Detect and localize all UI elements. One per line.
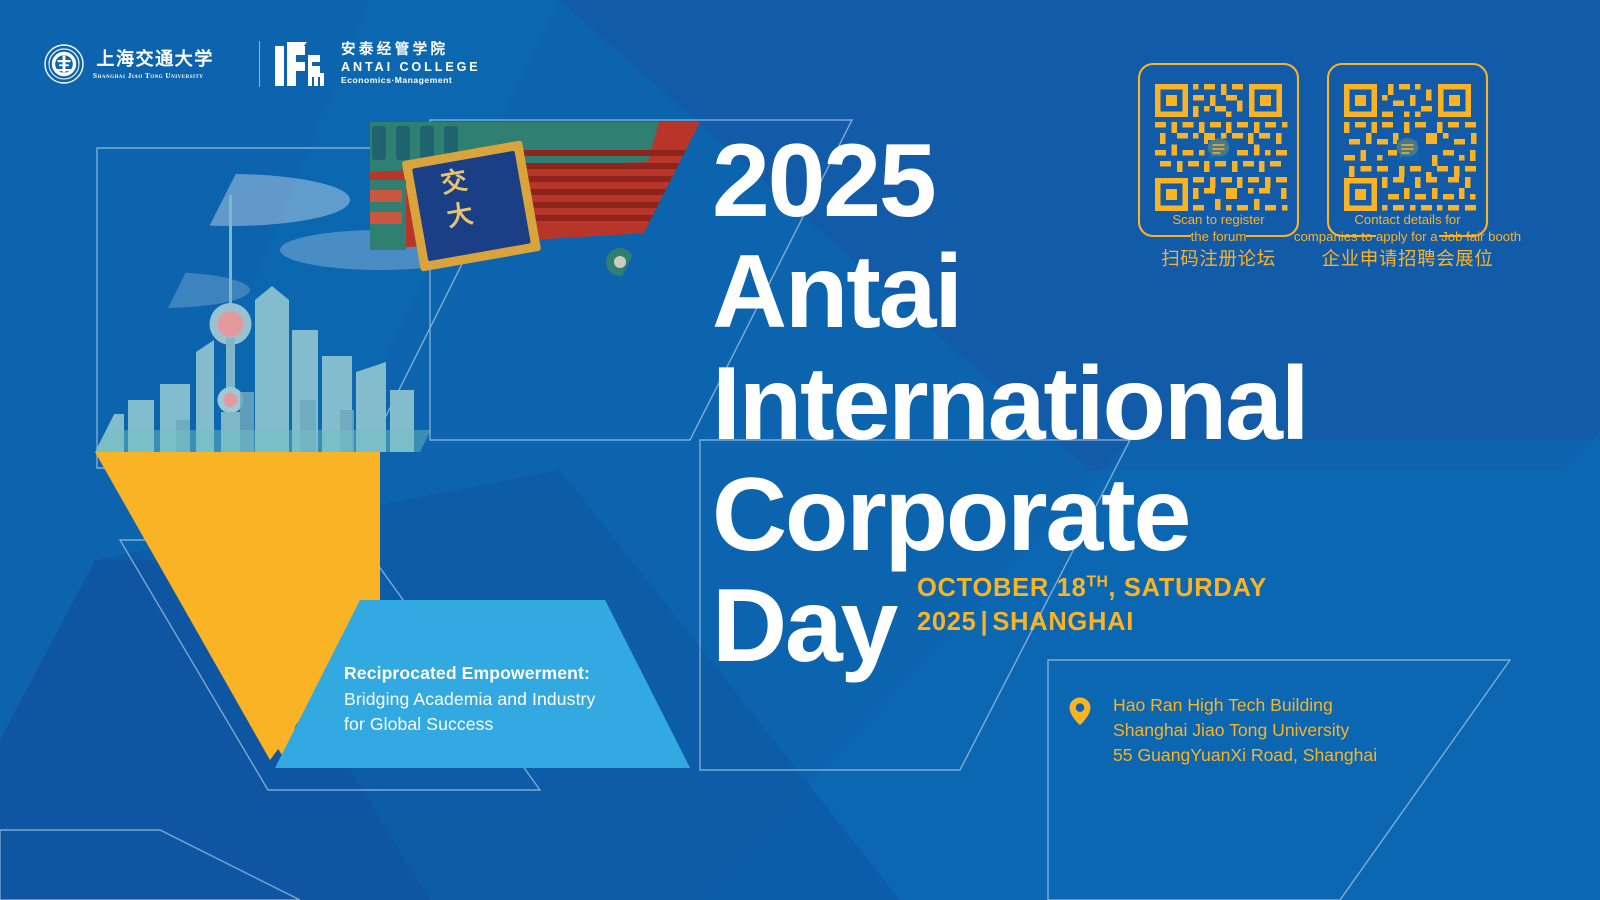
qr-code-icon[interactable] <box>1133 62 1304 238</box>
date-line-1: OCTOBER 18TH, SATURDAY <box>917 572 1267 606</box>
address-line-2: Shanghai Jiao Tong University <box>1113 718 1377 743</box>
college-name-cn: 安泰经管学院 <box>341 42 481 59</box>
poster-canvas: 交 大 <box>0 0 1600 900</box>
qr-frame-register <box>1133 62 1304 238</box>
college-name-en: ANTAI COLLEGE <box>341 59 481 75</box>
acem-wordmark: 安泰经管学院 ANTAI COLLEGE Economics·Managemen… <box>341 42 481 86</box>
qr-frame-contact <box>1322 62 1493 238</box>
venue-address: Hao Ran High Tech Building Shanghai Jiao… <box>1065 693 1377 768</box>
date-month-day: OCTOBER 18 <box>917 574 1087 602</box>
date-year: 2025 <box>917 608 977 636</box>
qr-code-group: Scan to register the forum 扫码注册论坛 <box>1133 62 1493 238</box>
date-separator: | <box>977 608 993 636</box>
acem-monogram-icon <box>275 42 329 86</box>
svg-text:大: 大 <box>445 199 476 232</box>
date-weekday: , SATURDAY <box>1108 574 1267 602</box>
college-subtitle: Economics·Management <box>341 75 481 86</box>
date-city: SHANGHAI <box>992 608 1134 636</box>
event-date-location: OCTOBER 18TH, SATURDAY 2025|SHANGHAI <box>917 572 1267 639</box>
logo-bar: 上海交通大学 Shanghai Jiao Tong University 安泰经… <box>44 34 481 94</box>
university-name-en: Shanghai Jiao Tong University <box>93 72 243 80</box>
svg-text:上海交通大学: 上海交通大学 <box>96 48 213 69</box>
location-pin-icon <box>1065 696 1095 726</box>
theme-title: Reciprocated Empowerment: <box>344 661 595 687</box>
svg-text:交: 交 <box>439 165 470 199</box>
logo-divider <box>259 41 260 87</box>
address-line-3: 55 GuangYuanXi Road, Shanghai <box>1113 743 1377 768</box>
date-ordinal-suffix: TH <box>1087 574 1109 591</box>
title-line-2: Antai <box>712 237 1307 348</box>
university-name-cn: 上海交通大学 <box>93 48 243 69</box>
qr-block-register[interactable]: Scan to register the forum 扫码注册论坛 <box>1133 62 1304 238</box>
theme-line-2: Bridging Academia and Industry <box>344 687 595 713</box>
date-line-2: 2025|SHANGHAI <box>917 606 1267 640</box>
title-line-3: International <box>712 349 1307 460</box>
address-lines: Hao Ran High Tech Building Shanghai Jiao… <box>1113 693 1377 768</box>
qr-code-icon[interactable] <box>1322 62 1493 238</box>
title-line-4: Corporate <box>712 460 1307 571</box>
qr-block-contact[interactable]: Contact details for companies to apply f… <box>1322 62 1493 238</box>
address-line-1: Hao Ran High Tech Building <box>1113 693 1377 718</box>
event-theme: Reciprocated Empowerment: Bridging Acade… <box>344 661 595 738</box>
theme-line-3: for Global Success <box>344 712 595 738</box>
university-seal-icon <box>44 44 84 84</box>
